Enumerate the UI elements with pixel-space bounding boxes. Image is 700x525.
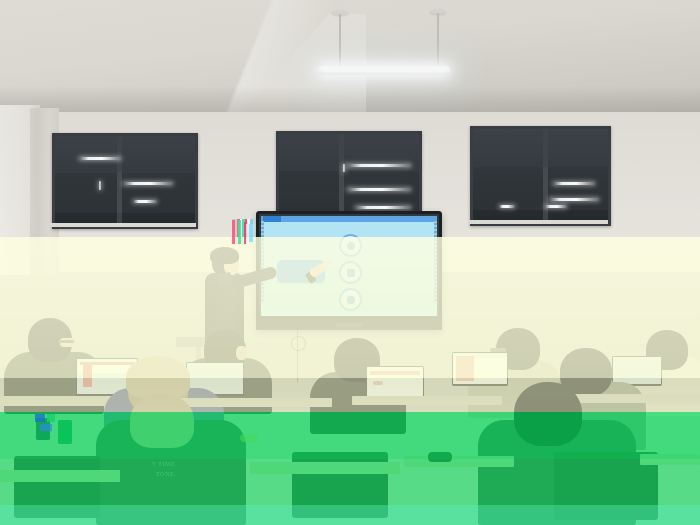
laptop-content: [83, 365, 92, 387]
instructor-hair: [210, 247, 239, 264]
jacket-print-line2: TONE.: [156, 472, 176, 478]
desk-foreground: [640, 454, 700, 465]
window-glare: [553, 182, 595, 185]
desk-foreground: [404, 456, 514, 467]
glasses-icon: [58, 340, 74, 343]
desk-foreground: [0, 470, 120, 482]
app-tab[interactable]: [263, 216, 281, 222]
fluorescent-tube-core: [322, 68, 446, 72]
desk-foreground: [250, 462, 400, 474]
desk-object-mouse: [428, 452, 452, 462]
square-icon[interactable]: [339, 261, 362, 284]
interactive-whiteboard[interactable]: [256, 211, 442, 330]
whiteboard-logo: [336, 323, 362, 327]
window-sill-right: [468, 220, 608, 224]
laptop-content: [456, 356, 474, 381]
jacket-print-line1: T TIME: [152, 462, 175, 468]
poster-strip-secondary: [246, 224, 256, 246]
window-glare: [499, 205, 515, 208]
window-right: [470, 126, 611, 226]
whiteboard-screen[interactable]: [261, 216, 437, 316]
desk: [352, 396, 502, 405]
laptop-screen: [453, 353, 507, 384]
chair-back: [14, 456, 100, 518]
window-glare: [355, 206, 411, 209]
window-glare: [123, 182, 173, 185]
window-glare: [347, 188, 411, 191]
screen-edge-texture-right: [434, 221, 437, 302]
window-glare: [79, 157, 121, 160]
window-reflection-band: [55, 172, 195, 213]
suspension-rod-right: [437, 13, 439, 69]
classroom-photo: T TIME TONE.: [0, 0, 700, 525]
window-glare: [545, 205, 567, 208]
desk-object-bottle: [58, 420, 72, 444]
desk-object-small: [240, 434, 258, 442]
window-left: [52, 133, 198, 229]
instructor-collar: [217, 272, 231, 283]
student-face: [236, 346, 247, 360]
window-sill-left: [50, 223, 196, 227]
whiteboard-control-strip[interactable]: [256, 317, 442, 330]
laptop-screen: [613, 357, 661, 384]
student-head-foreground: [514, 382, 582, 446]
student-hair: [126, 356, 190, 398]
hanging-ring-icon: [291, 336, 306, 351]
laptop[interactable]: [366, 366, 424, 398]
suspension-rod-left: [339, 14, 341, 68]
laptop-toolbar: [80, 362, 134, 365]
laptop-content: [373, 381, 383, 385]
laptop[interactable]: [452, 352, 508, 386]
student-head-foreground: [130, 394, 194, 448]
laptop-screen: [367, 367, 423, 396]
window-glare: [133, 200, 157, 203]
window-glare: [343, 164, 345, 172]
desk: [172, 398, 332, 407]
window-glare: [549, 198, 599, 201]
app-title-bar: [261, 216, 437, 222]
rounded-square-icon[interactable]: [339, 288, 362, 311]
laptop-toolbar: [370, 371, 420, 375]
window-glare: [347, 164, 411, 167]
window-glare: [99, 181, 101, 190]
desk-object-cup: [36, 418, 50, 440]
settings-gear-icon[interactable]: [339, 234, 362, 257]
window-reflection-band: [473, 167, 608, 210]
